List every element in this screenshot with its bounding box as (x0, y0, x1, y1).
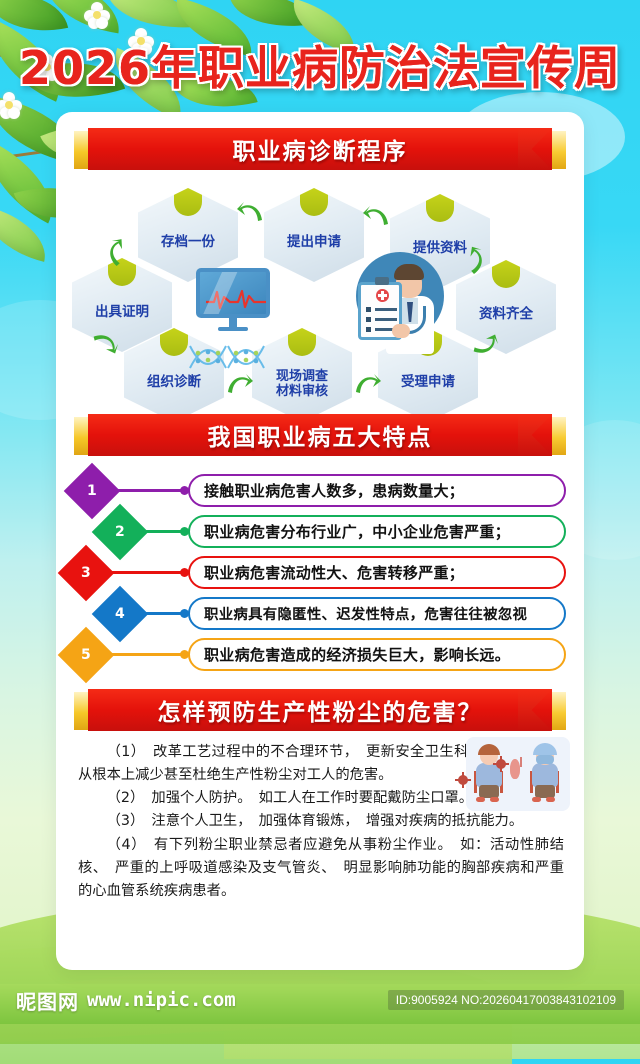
flow-step-tichushenqing[interactable]: 提出申请 (264, 188, 364, 282)
feature-number: 5 (81, 647, 91, 663)
virus-icon (496, 759, 506, 769)
flow-step-label: 出具证明 (95, 305, 149, 321)
section-header-features: 我国职业病五大特点 (74, 414, 566, 456)
flow-step-label: 现场调查 材料审核 (276, 370, 328, 400)
workers-lungs-illustration (466, 737, 570, 811)
poster-title-container: 2026年职业病防治法宣传周 (0, 32, 640, 98)
virus-icon (458, 775, 468, 785)
doctor-hair (394, 264, 424, 280)
ribbon-body: 职业病诊断程序 (88, 128, 552, 170)
list-item[interactable]: 3 职业病危害流动性大、危害转移严重； (66, 552, 566, 593)
page-title: 2026年职业病防治法宣传周 (19, 32, 621, 98)
feature-connector (106, 653, 186, 656)
section-header-diagnosis: 职业病诊断程序 (74, 128, 566, 170)
feature-text-pill: 职业病危害造成的经济损失巨大，影响长远。 (188, 638, 566, 671)
monitor-base (218, 327, 248, 331)
feature-connector (112, 489, 186, 492)
feature-connector (106, 571, 186, 574)
ecg-monitor-icon (196, 268, 270, 328)
diagnosis-flow-diagram: 存档一份 提出申请 提供资料 出具证明 资料齐全 组织诊断 现场调查 (56, 182, 584, 412)
dust-prevention-text: （1） 改革工艺过程中的不合理环节， 更新安全卫生科学的生产设备， 从根本上减少… (78, 741, 564, 903)
hex-tab-icon (300, 186, 328, 216)
ribbon-body: 怎样预防生产性粉尘的危害？ (88, 689, 552, 731)
list-item[interactable]: 4 职业病具有隐匿性、迟发性特点，危害往往被忽视 (66, 593, 566, 634)
flower-icon (84, 2, 110, 28)
flow-arrow-icon (352, 372, 382, 398)
footer-watermark: 昵图网 www.nipic.com ID:9005924 NO:20260417… (0, 976, 640, 1024)
feature-text-pill: 职业病危害分布行业广，中小企业危害严重； (188, 515, 566, 548)
dna-helix-icon (188, 340, 284, 374)
feature-text: 职业病危害分布行业广，中小企业危害严重； (204, 521, 510, 542)
flow-arrow-icon (362, 204, 392, 230)
content-card: 职业病诊断程序 存档一份 提出申请 提供资料 出具证明 资料齐全 (56, 112, 584, 970)
feature-number: 1 (87, 483, 97, 499)
asset-id-badge: ID:9005924 NO:20260417003843102109 (388, 990, 624, 1010)
medical-cross-icon (376, 289, 389, 302)
feature-text: 职业病危害流动性大、危害转移严重； (204, 562, 464, 583)
nipic-url: www.nipic.com (87, 989, 236, 1011)
hex-tab-icon (426, 192, 454, 222)
flow-step-label: 资料齐全 (479, 307, 533, 323)
feature-connector (140, 612, 186, 615)
section-title: 职业病诊断程序 (233, 132, 408, 166)
list-item[interactable]: 2 职业病危害分布行业广，中小企业危害严重； (66, 511, 566, 552)
doctor-illustration (352, 252, 448, 356)
features-list: 1 接触职业病危害人数多，患病数量大； 2 职业病危害分布行业广，中小企业危害严… (66, 470, 566, 675)
flow-arrow-icon (236, 200, 266, 226)
list-item[interactable]: 1 接触职业病危害人数多，患病数量大； (66, 470, 566, 511)
feature-number: 2 (115, 524, 125, 540)
feature-text: 职业病具有隐匿性、迟发性特点，危害往往被忽视 (204, 603, 527, 624)
section-title: 我国职业病五大特点 (208, 418, 433, 452)
feature-text-pill: 接触职业病危害人数多，患病数量大； (188, 474, 566, 507)
lungs-icon (510, 757, 532, 781)
flow-step-label-line2: 材料审核 (276, 385, 328, 400)
feature-number: 3 (81, 565, 91, 581)
doctor-hand (392, 324, 410, 338)
worker-figure-right (530, 745, 560, 801)
worker-figure-left (474, 745, 504, 801)
nipic-logo: 昵图网 (16, 986, 79, 1015)
hex-tab-icon (174, 186, 202, 216)
flow-step-label: 组织诊断 (147, 375, 201, 391)
flow-step-label: 受理申请 (401, 375, 455, 391)
ecg-line-icon (206, 288, 268, 310)
flow-step-label: 提出申请 (287, 235, 341, 251)
feature-text: 职业病危害造成的经济损失巨大，影响长远。 (204, 644, 510, 665)
hex-tab-icon (492, 258, 520, 288)
flow-arrow-icon (224, 372, 254, 398)
section-header-dust: 怎样预防生产性粉尘的危害？ (74, 689, 566, 731)
feature-text-pill: 职业病危害流动性大、危害转移严重； (188, 556, 566, 589)
flow-step-label: 存档一份 (161, 235, 215, 251)
section-title: 怎样预防生产性粉尘的危害？ (158, 693, 483, 727)
feature-connector (140, 530, 186, 533)
dust-paragraph: （3） 注意个人卫生， 加强体育锻炼， 增强对疾病的抵抗能力。 (78, 810, 564, 833)
list-item[interactable]: 5 职业病危害造成的经济损失巨大，影响长远。 (66, 634, 566, 675)
feature-text: 接触职业病危害人数多，患病数量大； (204, 480, 464, 501)
ribbon-body: 我国职业病五大特点 (88, 414, 552, 456)
feature-text-pill: 职业病具有隐匿性、迟发性特点，危害往往被忽视 (188, 597, 566, 630)
hex-tab-icon (288, 326, 316, 356)
monitor-screen (196, 268, 270, 318)
monitor-stand (229, 318, 237, 327)
dust-paragraph: （4） 有下列粉尘职业禁忌者应避免从事粉尘作业。 如：活动性肺结核、 严重的上呼… (78, 834, 564, 903)
feature-number: 4 (115, 606, 125, 622)
